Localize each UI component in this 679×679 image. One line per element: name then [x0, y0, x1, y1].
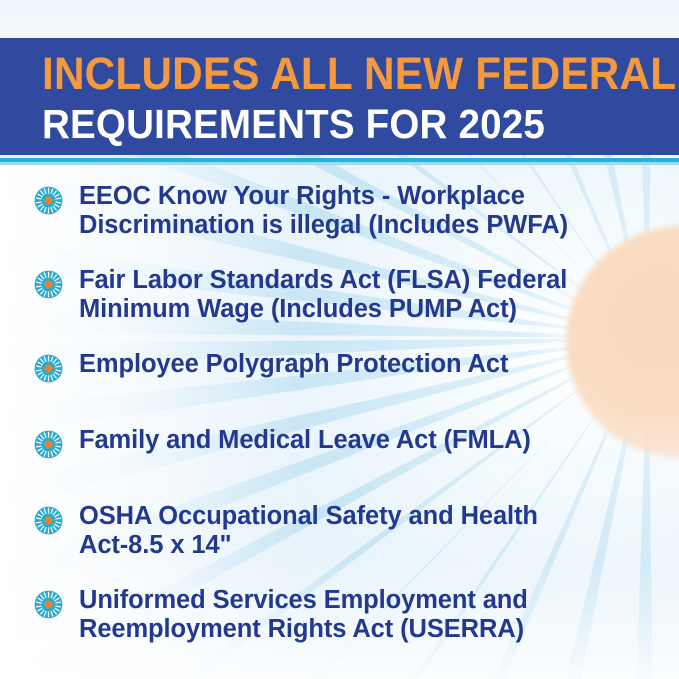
- sunburst-bullet-icon: [34, 270, 63, 299]
- list-item-label: Family and Medical Leave Act (FMLA): [79, 420, 531, 455]
- list-item: Family and Medical Leave Act (FMLA): [0, 420, 679, 476]
- sunburst-bullet-icon: [34, 506, 63, 535]
- list-item: Employee Polygraph Protection Act: [0, 344, 679, 400]
- sunburst-bullet-icon: [34, 590, 63, 619]
- requirements-list: EEOC Know Your Rights - Workplace Discri…: [0, 176, 679, 664]
- list-item-label: Uniformed Services Employment and Reempl…: [79, 580, 528, 644]
- list-item: Uniformed Services Employment and Reempl…: [0, 580, 679, 644]
- list-item-label: Employee Polygraph Protection Act: [79, 344, 508, 379]
- list-item-label: OSHA Occupational Safety and Health Act-…: [79, 496, 538, 560]
- list-item-label: Fair Labor Standards Act (FLSA) Federal …: [79, 260, 567, 324]
- list-item: EEOC Know Your Rights - Workplace Discri…: [0, 176, 679, 240]
- header-line-2: REQUIREMENTS FOR 2025: [42, 100, 641, 148]
- list-item: OSHA Occupational Safety and Health Act-…: [0, 496, 679, 560]
- header-banner: INCLUDES ALL NEW FEDERAL REQUIREMENTS FO…: [0, 38, 679, 155]
- federal-labor-law-poster: INCLUDES ALL NEW FEDERAL REQUIREMENTS FO…: [0, 0, 679, 679]
- teal-divider-rule-soft: [0, 162, 679, 165]
- header-line-1: INCLUDES ALL NEW FEDERAL: [42, 48, 641, 100]
- sunburst-bullet-icon: [34, 354, 63, 383]
- sunburst-bullet-icon: [34, 186, 63, 215]
- list-item-label: EEOC Know Your Rights - Workplace Discri…: [79, 176, 568, 240]
- background-top-glow: [0, 0, 679, 42]
- list-item: Fair Labor Standards Act (FLSA) Federal …: [0, 260, 679, 324]
- sunburst-bullet-icon: [34, 430, 63, 459]
